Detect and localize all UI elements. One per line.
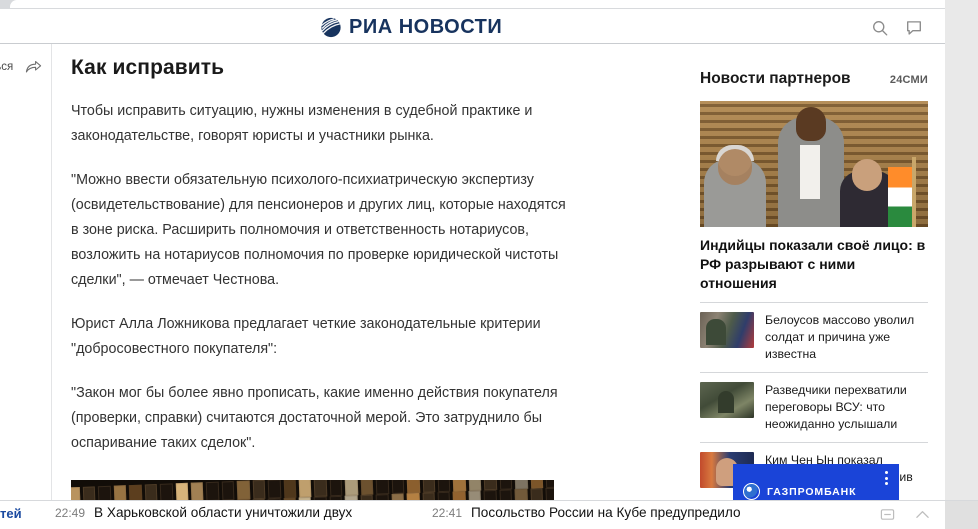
scout-soldier-thumb	[700, 382, 754, 418]
office-meeting-art	[700, 101, 928, 227]
browser-right-gutter	[945, 9, 978, 528]
article-paragraph: "Можно ввести обязательную психолого-пси…	[71, 168, 571, 293]
ticker-item-text: Посольство России на Кубе предупредило	[471, 505, 741, 520]
browser-tab-strip	[0, 0, 978, 9]
facade-window	[252, 480, 265, 499]
article-paragraph: Чтобы исправить ситуацию, нужны изменени…	[71, 99, 571, 149]
site-header: РИА НОВОСТИ	[0, 9, 945, 44]
ticker-more-link[interactable]: тей	[0, 506, 22, 521]
facade-window	[267, 480, 280, 499]
ticker-controls	[880, 507, 930, 522]
article-paragraph: "Закон мог бы более явно прописать, каки…	[71, 381, 571, 456]
facade-window	[190, 482, 203, 501]
list-item[interactable]: Белоусов массово уволил солдат и причина…	[700, 302, 928, 363]
facade-window	[206, 482, 219, 501]
news-ticker-bar: тей 22:49 В Харьковской области уничтожи…	[0, 500, 978, 528]
ria-swoosh-globe-icon	[320, 16, 342, 38]
page-title: Как исправить	[71, 56, 571, 80]
content-column-divider	[51, 44, 52, 528]
facade-window	[499, 480, 512, 490]
facade-window	[375, 480, 388, 495]
list-item-title: Белоусов массово уволил солдат и причина…	[765, 312, 928, 363]
sidebar-hero-title[interactable]: Индийцы показали своё лицо: в РФ разрыва…	[700, 236, 928, 293]
ticker-item-time: 22:41	[432, 506, 462, 520]
facade-window	[329, 480, 342, 496]
flag-pole-art	[912, 157, 916, 227]
list-item[interactable]: Разведчики перехватили переговоры ВСУ: ч…	[700, 372, 928, 433]
share-rail[interactable]: оделиться	[0, 59, 50, 74]
kebab-menu-icon[interactable]	[885, 471, 888, 485]
ticker-item[interactable]: 22:49 В Харьковской области уничтожили д…	[55, 505, 352, 520]
man-shirt-art	[800, 145, 820, 199]
site-logo-text: РИА НОВОСТИ	[349, 16, 502, 38]
facade-window	[237, 480, 250, 499]
facade-window	[283, 480, 296, 498]
elder-head-art	[718, 149, 752, 185]
facade-window	[453, 480, 466, 492]
gazprombank-brand-lockup: ГАЗПРОМБАНК	[743, 483, 856, 500]
ticker-item-text: В Харьковской области уничтожили двух	[94, 505, 352, 520]
article-paragraph: Юрист Алла Ложникова предлагает четкие з…	[71, 312, 571, 362]
india-flag-art	[888, 167, 912, 227]
belousov-portrait-thumb	[700, 312, 754, 348]
header-actions	[871, 19, 923, 37]
sidebar-title: Новости партнеров	[700, 70, 851, 88]
facade-window	[437, 480, 450, 492]
sidebar-brand: 24СМИ	[890, 74, 928, 86]
gazprombank-wordmark: ГАЗПРОМБАНК	[767, 486, 856, 498]
search-icon[interactable]	[871, 19, 889, 37]
comment-bubble-icon[interactable]	[905, 19, 923, 37]
facade-window	[483, 480, 496, 490]
ticker-corner-padding	[945, 501, 978, 529]
facade-window	[221, 481, 234, 500]
facade-window	[314, 480, 327, 497]
chevron-up-icon[interactable]	[915, 507, 930, 522]
ticker-item[interactable]: 22:41 Посольство России на Кубе предупре…	[432, 505, 741, 520]
facade-window	[406, 480, 419, 493]
list-item-title: Разведчики перехватили переговоры ВСУ: ч…	[765, 382, 928, 433]
facade-window	[345, 480, 358, 496]
sidebar-hero-image[interactable]	[700, 101, 928, 227]
man-head-art	[796, 107, 826, 141]
facade-window	[422, 480, 435, 493]
page-viewport: РИА НОВОСТИ оделиться Как исправить Чтоб…	[0, 9, 945, 528]
partners-news-sidebar: Новости партнеров 24СМИ Индийцы показали…	[700, 44, 928, 528]
sidebar-header: Новости партнеров 24СМИ	[700, 44, 928, 88]
facade-window	[468, 480, 481, 491]
facade-window	[360, 480, 373, 495]
woman-head-art	[852, 159, 882, 191]
share-label: оделиться	[0, 61, 13, 73]
facade-window	[298, 480, 311, 498]
browser-tab-active[interactable]	[10, 0, 978, 8]
minimize-icon[interactable]	[880, 507, 895, 522]
facade-window	[391, 480, 404, 494]
gazprombank-flame-globe-icon	[743, 483, 760, 500]
site-logo[interactable]: РИА НОВОСТИ	[320, 16, 502, 38]
share-arrow-icon[interactable]	[25, 59, 42, 74]
article-body: Как исправить Чтобы исправить ситуацию, …	[71, 44, 571, 528]
ticker-item-time: 22:49	[55, 506, 85, 520]
